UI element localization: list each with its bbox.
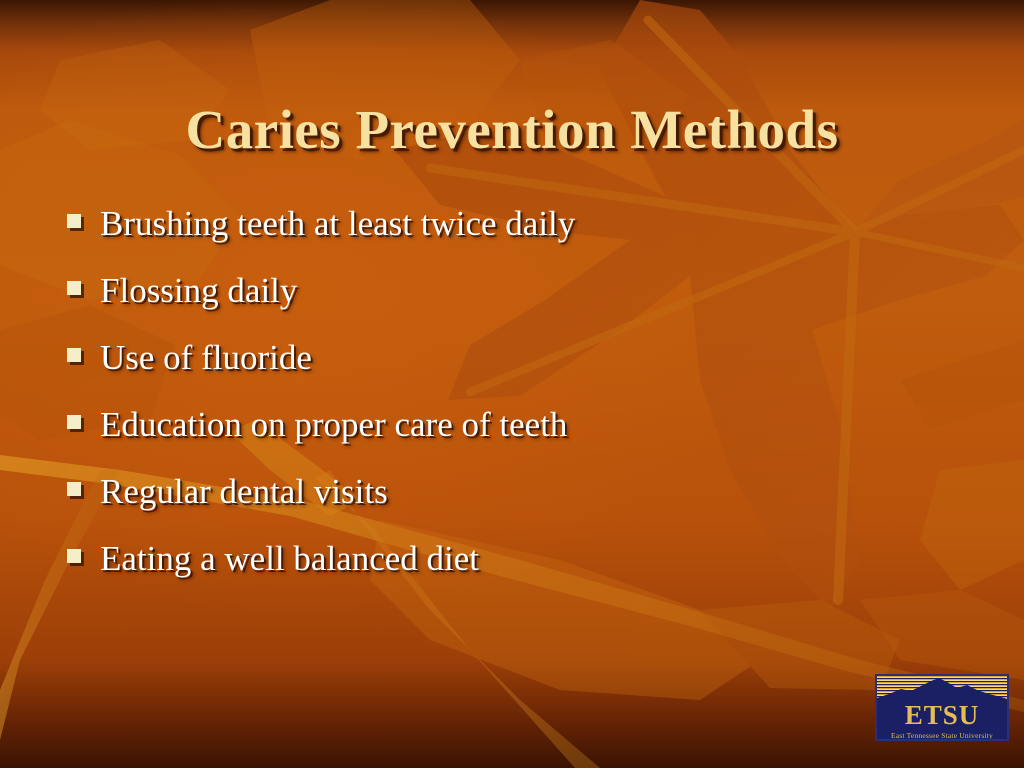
square-bullet-icon: [67, 348, 81, 362]
list-item-label: Education on proper care of teeth: [100, 405, 567, 445]
square-bullet-icon: [67, 482, 81, 496]
square-bullet-icon: [67, 214, 81, 228]
square-bullet-icon: [67, 281, 81, 295]
bullet-list: Brushing teeth at least twice daily Flos…: [64, 190, 964, 592]
list-item: Brushing teeth at least twice daily: [64, 190, 964, 257]
mountain-icon: [877, 676, 1007, 701]
list-item-label: Eating a well balanced diet: [100, 539, 479, 579]
list-item: Flossing daily: [64, 257, 964, 324]
etsu-wordmark: ETSU: [877, 702, 1007, 729]
square-bullet-icon: [67, 415, 81, 429]
slide-title: Caries Prevention Methods: [0, 99, 1024, 161]
list-item: Education on proper care of teeth: [64, 391, 964, 458]
list-item-label: Use of fluoride: [100, 338, 312, 378]
etsu-logo: ETSU East Tennessee State University: [875, 674, 1009, 741]
square-bullet-icon: [67, 549, 81, 563]
list-item-label: Flossing daily: [100, 271, 297, 311]
list-item-label: Brushing teeth at least twice daily: [100, 204, 575, 244]
list-item: Use of fluoride: [64, 324, 964, 391]
list-item: Eating a well balanced diet: [64, 525, 964, 592]
presentation-slide: Caries Prevention Methods Brushing teeth…: [0, 0, 1024, 768]
list-item-label: Regular dental visits: [100, 472, 388, 512]
list-item: Regular dental visits: [64, 458, 964, 525]
etsu-tagline: East Tennessee State University: [877, 731, 1007, 741]
